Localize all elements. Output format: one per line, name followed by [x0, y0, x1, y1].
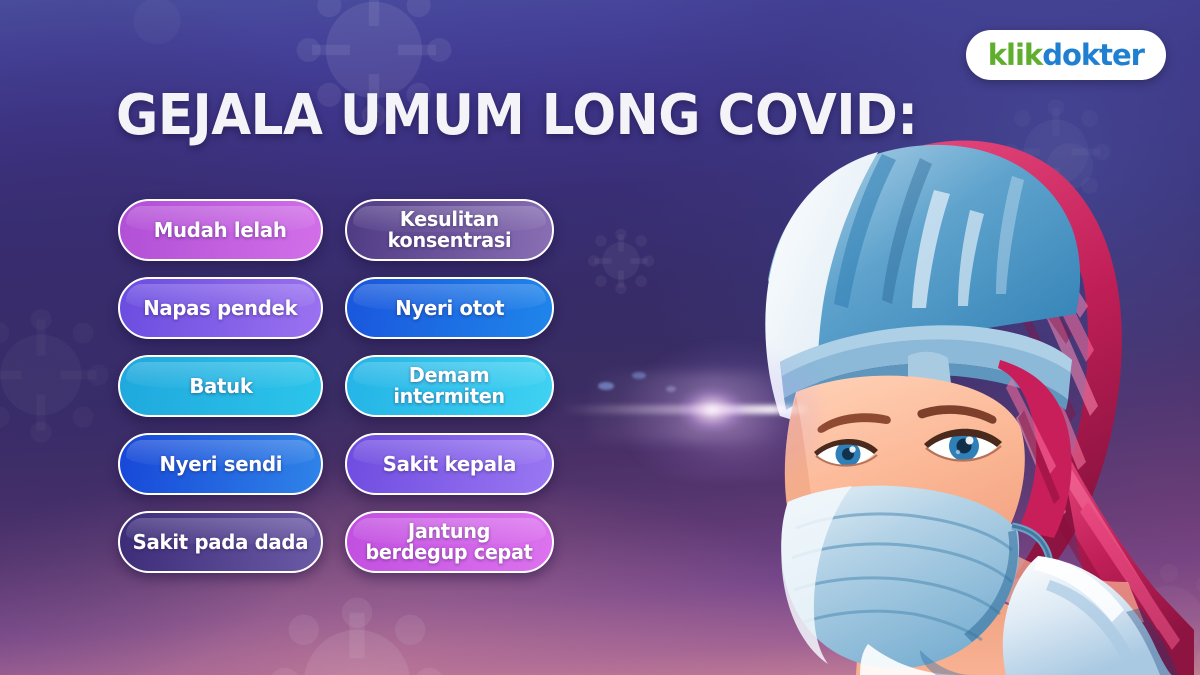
page-title: GEJALA UMUM LONG COVID: [116, 88, 917, 144]
symptom-pill[interactable]: Mudah lelah [118, 199, 323, 261]
logo-dokter-text: dokter [1042, 38, 1144, 72]
bokeh-dot [598, 382, 614, 390]
symptom-label: Sakit kepala [375, 453, 524, 475]
symptom-pill[interactable]: Sakit pada dada [118, 511, 323, 573]
symptom-label: Kesulitankonsentrasi [380, 209, 519, 251]
symptom-list-left: Mudah lelah Napas pendek Batuk Nyeri sen… [118, 199, 323, 589]
symptom-label: Sakit pada dada [125, 531, 316, 553]
symptom-label-line2: berdegup cepat [366, 540, 533, 564]
bokeh-dot [666, 386, 676, 392]
symptom-list-right: Kesulitankonsentrasi Nyeri otot Demamint… [345, 199, 554, 589]
symptom-pill[interactable]: Napas pendek [118, 277, 323, 339]
symptom-label-line2: intermiten [394, 384, 506, 408]
symptom-label: Jantungberdegup cepat [358, 521, 540, 563]
symptom-label: Batuk [181, 375, 260, 397]
symptom-label: Mudah lelah [146, 219, 294, 241]
symptom-pill[interactable]: Demamintermiten [345, 355, 554, 417]
symptom-label: Napas pendek [136, 297, 306, 319]
bokeh-dot [632, 372, 646, 379]
infographic-canvas: klikdokter GEJALA UMUM LONG COVID: Mudah… [0, 0, 1200, 675]
symptom-label: Demamintermiten [386, 365, 513, 407]
symptom-label: Nyeri otot [387, 297, 511, 319]
symptom-pill[interactable]: Jantungberdegup cepat [345, 511, 554, 573]
symptom-pill[interactable]: Nyeri sendi [118, 433, 323, 495]
symptom-label: Nyeri sendi [151, 453, 289, 475]
symptom-pill[interactable]: Batuk [118, 355, 323, 417]
klikdokter-logo[interactable]: klikdokter [966, 30, 1166, 80]
symptom-pill[interactable]: Nyeri otot [345, 277, 554, 339]
symptom-pill[interactable]: Kesulitankonsentrasi [345, 199, 554, 261]
symptom-pill[interactable]: Sakit kepala [345, 433, 554, 495]
symptom-label-line2: konsentrasi [388, 228, 512, 252]
logo-text: klikdokter [988, 41, 1144, 70]
logo-klik-text: klik [988, 38, 1042, 72]
